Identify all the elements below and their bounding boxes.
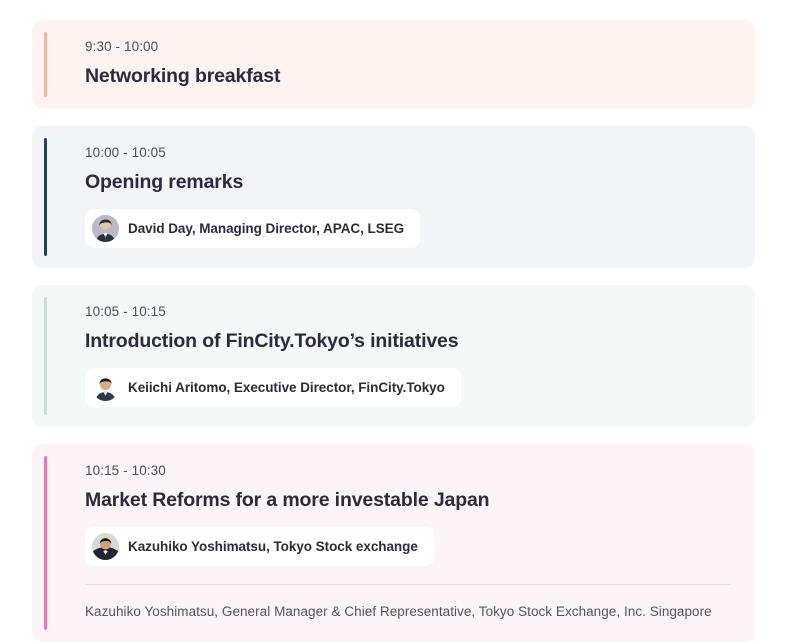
session-accent-bar [44, 456, 47, 630]
speaker-name: Keiichi Aritomo, Executive Director, Fin… [128, 379, 445, 397]
session-title: Networking breakfast [85, 63, 731, 89]
avatar [92, 533, 119, 560]
bio-divider [85, 584, 731, 585]
session-accent-bar [44, 32, 47, 97]
session-body: 9:30 - 10:00 Networking breakfast [56, 38, 731, 89]
speaker-name: David Day, Managing Director, APAC, LSEG [128, 220, 404, 238]
speaker-chip[interactable]: David Day, Managing Director, APAC, LSEG [85, 209, 420, 248]
speaker-list: Keiichi Aritomo, Executive Director, Fin… [85, 368, 731, 407]
session-time: 10:00 - 10:05 [85, 144, 731, 162]
session-title: Introduction of FinCity.Tokyo’s initiati… [85, 328, 731, 354]
session-accent-bar [44, 297, 47, 415]
session-card[interactable]: 9:30 - 10:00 Networking breakfast [32, 20, 755, 109]
speaker-list: Kazuhiko Yoshimatsu, Tokyo Stock exchang… [85, 527, 731, 566]
avatar [92, 374, 119, 401]
speaker-list: David Day, Managing Director, APAC, LSEG [85, 209, 731, 248]
session-card[interactable]: 10:00 - 10:05 Opening remarks [32, 126, 755, 268]
session-time: 10:05 - 10:15 [85, 303, 731, 321]
session-card[interactable]: 10:05 - 10:15 Introduction of FinCity.To… [32, 285, 755, 427]
session-title: Opening remarks [85, 169, 731, 195]
session-time: 10:15 - 10:30 [85, 462, 731, 480]
session-body: 10:00 - 10:05 Opening remarks [56, 144, 731, 248]
session-body: 10:15 - 10:30 Market Reforms for a more … [56, 462, 731, 622]
speaker-chip[interactable]: Kazuhiko Yoshimatsu, Tokyo Stock exchang… [85, 527, 434, 566]
speaker-chip[interactable]: Keiichi Aritomo, Executive Director, Fin… [85, 368, 461, 407]
speaker-bio: Kazuhiko Yoshimatsu, General Manager & C… [85, 602, 731, 622]
avatar [92, 215, 119, 242]
session-card[interactable]: 10:15 - 10:30 Market Reforms for a more … [32, 444, 755, 642]
session-body: 10:05 - 10:15 Introduction of FinCity.To… [56, 303, 731, 407]
agenda-list: 9:30 - 10:00 Networking breakfast 10:00 … [0, 0, 800, 642]
speaker-name: Kazuhiko Yoshimatsu, Tokyo Stock exchang… [128, 538, 418, 556]
session-accent-bar [44, 138, 47, 256]
session-time: 9:30 - 10:00 [85, 38, 731, 56]
session-title: Market Reforms for a more investable Jap… [85, 487, 731, 513]
